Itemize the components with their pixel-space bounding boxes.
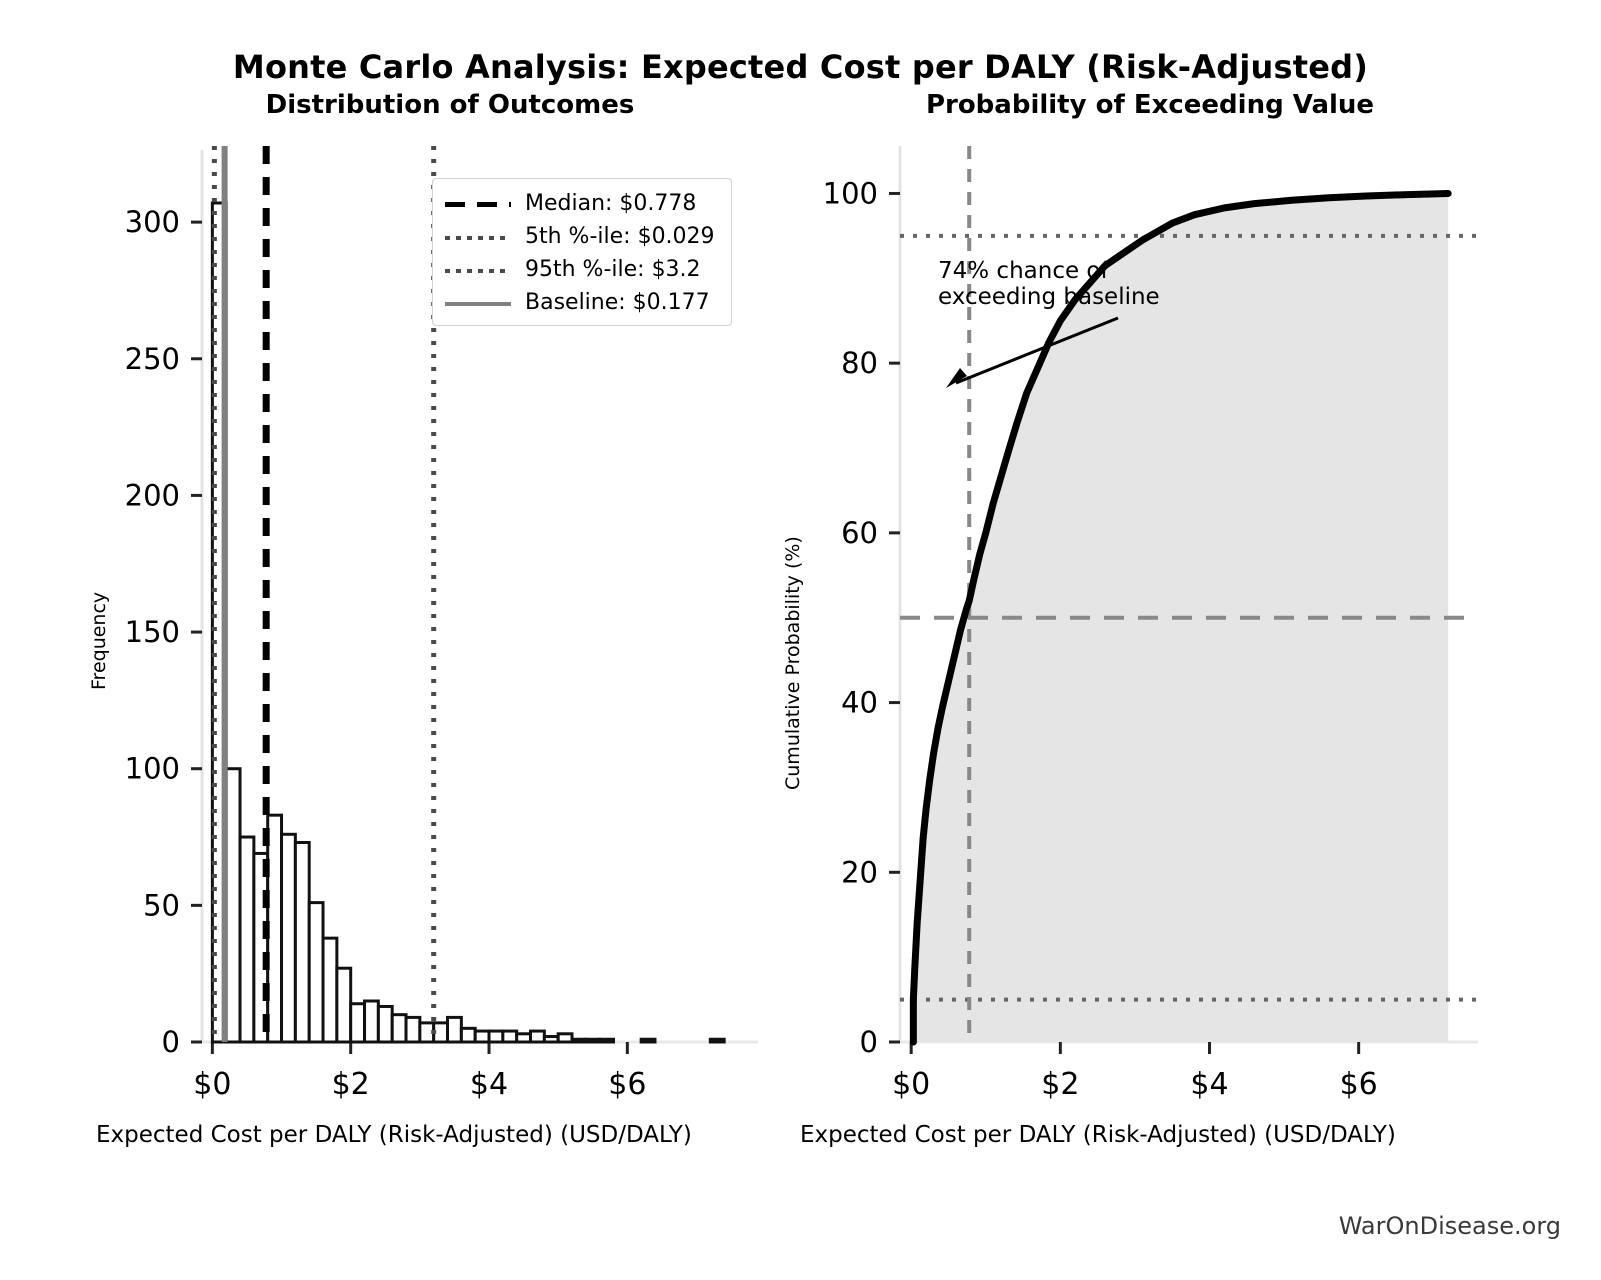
- histogram-bar: [351, 1004, 365, 1042]
- x-tick-label: $4: [470, 1067, 508, 1100]
- y-tick-label: 80: [841, 346, 878, 380]
- x-tick-label: $0: [892, 1067, 930, 1100]
- histogram-bar: [295, 842, 309, 1042]
- histogram-bar: [365, 1001, 379, 1042]
- right-y-axis-label: Cumulative Probability (%): [782, 536, 804, 790]
- y-tick-label: 100: [125, 752, 180, 786]
- histogram-bar: [586, 1039, 600, 1042]
- legend-label-baseline: Baseline: $0.177: [525, 290, 710, 315]
- legend-label-p95: 95th %-ile: $3.2: [525, 257, 701, 282]
- histogram-bar: [240, 837, 254, 1042]
- y-tick-label: 150: [125, 615, 180, 649]
- cdf-panel: 020406080100$0$2$4$6: [760, 0, 1601, 1100]
- y-tick-label: 100: [823, 176, 878, 210]
- y-tick-label: 200: [125, 478, 180, 512]
- legend-item-baseline: Baseline: $0.177: [443, 286, 721, 319]
- histogram-bar: [489, 1031, 503, 1042]
- y-tick-label: 50: [143, 888, 180, 922]
- histogram-bar: [448, 1017, 462, 1042]
- histogram-bar: [544, 1037, 558, 1042]
- histogram-bar: [461, 1028, 475, 1042]
- histogram-bar: [378, 1006, 392, 1042]
- legend-swatch-solid-icon: [443, 297, 513, 309]
- histogram-bar: [558, 1034, 572, 1042]
- x-tick-label: $4: [1190, 1067, 1228, 1100]
- histogram-bar: [226, 769, 240, 1042]
- histogram-panel: 050100150200250300$0$2$4$6: [0, 0, 800, 1100]
- y-tick-label: 0: [162, 1025, 180, 1059]
- histogram-bar: [309, 903, 323, 1042]
- left-y-axis-label: Frequency: [88, 592, 110, 690]
- histogram-bar: [531, 1031, 545, 1042]
- histogram-bar: [641, 1039, 655, 1042]
- right-x-axis-label: Expected Cost per DALY (Risk-Adjusted) (…: [800, 1122, 1396, 1148]
- histogram-bar: [572, 1039, 586, 1042]
- cdf-annotation-line2: exceeding baseline: [938, 284, 1160, 310]
- y-tick-label: 0: [860, 1025, 878, 1059]
- y-tick-label: 300: [125, 205, 180, 239]
- x-tick-label: $6: [608, 1067, 646, 1100]
- x-tick-label: $6: [1340, 1067, 1378, 1100]
- source-watermark: WarOnDisease.org: [1339, 1212, 1561, 1240]
- histogram-bar: [268, 815, 282, 1042]
- legend-label-median: Median: $0.778: [525, 191, 696, 216]
- histogram-bar: [254, 853, 268, 1042]
- y-tick-label: 40: [841, 686, 878, 720]
- histogram-bar: [600, 1039, 614, 1042]
- legend-swatch-dotted-icon: [443, 231, 513, 243]
- x-tick-label: $2: [1041, 1067, 1079, 1100]
- histogram-bar: [710, 1039, 724, 1042]
- cdf-annotation-line1: 74% chance of: [938, 258, 1160, 284]
- histogram-bar: [517, 1034, 531, 1042]
- x-tick-label: $2: [332, 1067, 370, 1100]
- y-tick-label: 250: [125, 342, 180, 376]
- legend-item-median: Median: $0.778: [443, 187, 721, 220]
- legend-swatch-dotted2-icon: [443, 264, 513, 276]
- legend: Median: $0.778 5th %-ile: $0.029 95th %-…: [432, 178, 732, 326]
- histogram-bar: [406, 1017, 420, 1042]
- chart-canvas: Monte Carlo Analysis: Expected Cost per …: [0, 0, 1601, 1280]
- histogram-bar: [475, 1031, 489, 1042]
- x-tick-label: $0: [193, 1067, 231, 1100]
- histogram-bar: [503, 1031, 517, 1042]
- histogram-bar: [323, 938, 337, 1042]
- legend-swatch-dashed-icon: [443, 198, 513, 210]
- histogram-bar: [337, 968, 351, 1042]
- legend-item-p95: 95th %-ile: $3.2: [443, 253, 721, 286]
- y-tick-label: 20: [841, 855, 878, 889]
- legend-item-p5: 5th %-ile: $0.029: [443, 220, 721, 253]
- y-tick-label: 60: [841, 516, 878, 550]
- cdf-annotation: 74% chance of exceeding baseline: [938, 258, 1160, 311]
- legend-label-p5: 5th %-ile: $0.029: [525, 224, 715, 249]
- histogram-bar: [282, 834, 296, 1042]
- left-x-axis-label: Expected Cost per DALY (Risk-Adjusted) (…: [96, 1122, 692, 1148]
- histogram-bar: [392, 1015, 406, 1042]
- annotation-arrow-head-icon: [946, 368, 967, 388]
